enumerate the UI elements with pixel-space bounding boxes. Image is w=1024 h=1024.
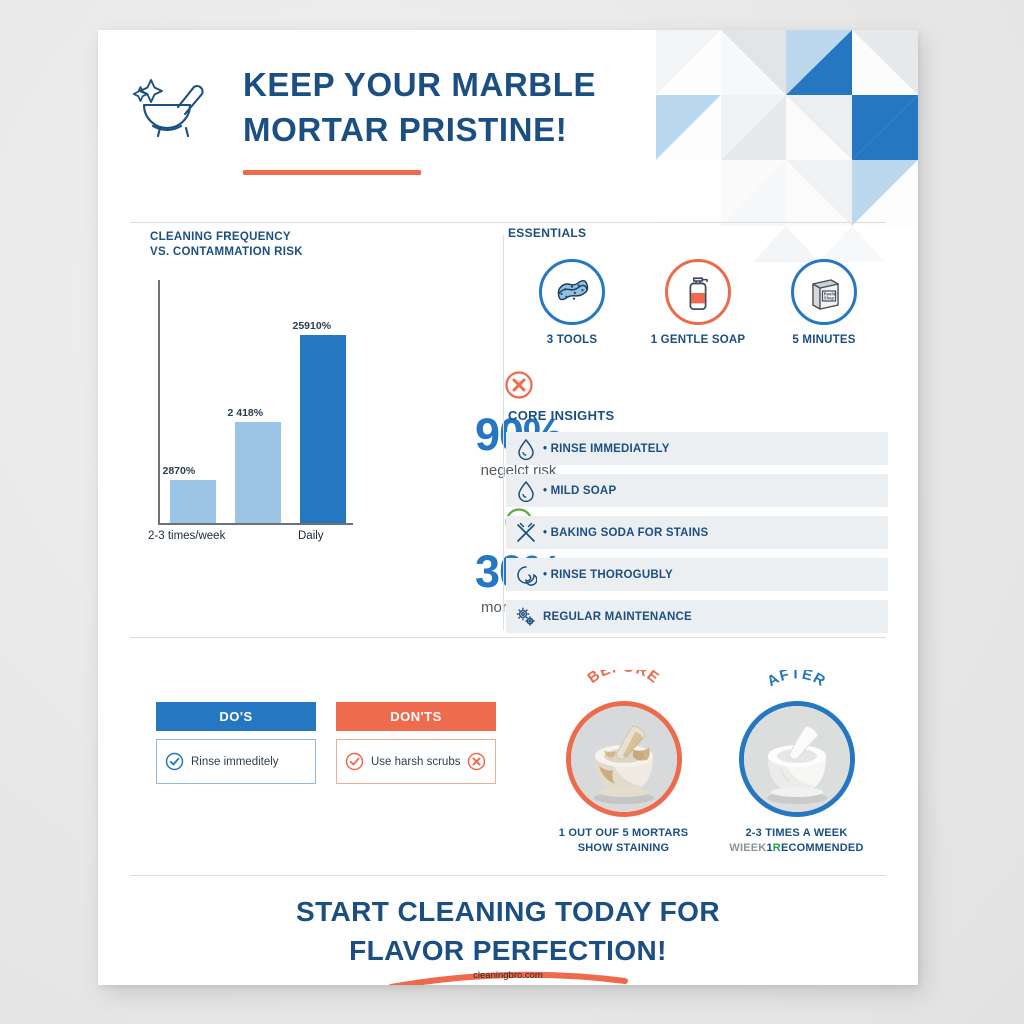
after-caption-frag-a: WIEEK xyxy=(729,842,766,854)
after-caption: 2-3 TIMES A WEEK WIEEK1RECOMMENDED xyxy=(719,826,874,856)
donts-header: DON'TS xyxy=(336,702,496,731)
divider-top xyxy=(130,222,886,223)
dos-item[interactable]: Rinse immeditely xyxy=(156,739,316,784)
title-line-2: MORTAR PRISTINE! xyxy=(243,107,663,152)
essentials-heading: ESSENTIALS xyxy=(508,226,888,241)
title-underline xyxy=(243,170,421,175)
swirl-icon xyxy=(515,564,537,586)
vertical-divider xyxy=(503,235,504,630)
insight-row[interactable]: • BAKING SODA FOR STAINS xyxy=(506,516,888,549)
box-text-line-2: Shap xyxy=(824,296,835,301)
circle-x-icon xyxy=(504,370,534,400)
insight-row[interactable]: • MILD SOAP xyxy=(506,474,888,507)
insight-label: • RINSE THOROGUBLY xyxy=(543,569,673,581)
essential-ring: Reelio Shap xyxy=(791,259,857,325)
dos-header: DO'S xyxy=(156,702,316,731)
bar xyxy=(235,422,281,523)
insight-label: • RINSE IMMEDIATELY xyxy=(543,443,670,455)
title-line-1: KEEP YOUR MARBLE xyxy=(243,62,663,107)
essential-item-minutes: Reelio Shap 5 MINUTES xyxy=(770,259,878,346)
after-caption-frag-d: ECOMMENDED xyxy=(781,842,864,854)
insight-label: • BAKING SODA FOR STAINS xyxy=(543,527,708,539)
chart-title-line-1: CLEANING FREQUENCY xyxy=(150,230,360,245)
core-insights-heading: CORE INSIGHTS xyxy=(508,408,888,423)
core-insights-list: • RINSE IMMEDIATELY• MILD SOAP• BAKING S… xyxy=(506,432,888,633)
before-caption: 1 OUT OUF 5 MORTARS SHOW STAINING xyxy=(546,826,701,856)
before-label-text: BEFORE xyxy=(584,670,662,687)
gears-icon xyxy=(515,606,537,628)
core-insights-section: CORE INSIGHTS • RINSE IMMEDIATELY• MILD … xyxy=(506,408,888,633)
after-label-text: AFTER xyxy=(764,670,829,690)
after-photo xyxy=(739,701,855,817)
essential-ring xyxy=(539,259,605,325)
after-caption-frag-c: R xyxy=(773,842,781,854)
stained-marble-mortar-photo xyxy=(571,706,677,812)
clean-white-marble-mortar-photo xyxy=(744,706,850,812)
essentials-row: 3 TOOLS xyxy=(518,259,878,346)
bar xyxy=(170,480,216,523)
after-arc-label: AFTER xyxy=(719,670,874,696)
donts-column: DON'TS Use harsh scrubs xyxy=(336,702,496,784)
before-column: BEFORE xyxy=(546,670,701,856)
bar-value-label: 2870% xyxy=(163,465,196,477)
essentials-section: ESSENTIALS xyxy=(506,226,888,346)
y-axis xyxy=(158,280,160,523)
bar-chart: 2870%2 418%25910% 2-3 times/weekDaily xyxy=(150,280,350,525)
cross-brush-icon xyxy=(515,522,537,544)
essential-ring xyxy=(665,259,731,325)
donts-item[interactable]: Use harsh scrubs xyxy=(336,739,496,784)
circle-check-icon xyxy=(165,752,184,771)
x-axis xyxy=(158,523,353,525)
before-photo xyxy=(566,701,682,817)
insight-label: REGULAR MAINTENANCE xyxy=(543,611,692,623)
before-after-section: BEFORE xyxy=(546,670,886,856)
bar-value-label: 2 418% xyxy=(228,407,264,419)
insight-row[interactable]: • RINSE IMMEDIATELY xyxy=(506,432,888,465)
insight-row[interactable]: • RINSE THOROGUBLY xyxy=(506,558,888,591)
chart-title-line-2: VS. CONTAMMATION RISK xyxy=(150,245,360,260)
before-arc-label: BEFORE xyxy=(546,670,701,696)
mortar-and-pestle-sparkle-icon xyxy=(130,60,216,146)
soap-dispenser-icon xyxy=(680,272,716,312)
before-caption-line-1: 1 OUT OUF 5 MORTARS xyxy=(546,826,701,841)
essential-label: 1 GENTLE SOAP xyxy=(644,334,752,346)
before-caption-line-2: SHOW STAINING xyxy=(546,841,701,856)
divider-bottom xyxy=(130,875,886,876)
svg-text:BEFORE: BEFORE xyxy=(584,670,662,687)
after-caption-line-2: WIEEK1RECOMMENDED xyxy=(719,841,874,856)
water-drop-icon xyxy=(515,480,537,502)
essential-item-soap: 1 GENTLE SOAP xyxy=(644,259,752,346)
footer-line-1: START CLEANING TODAY FOR xyxy=(98,892,918,931)
dos-column: DO'S Rinse immeditely xyxy=(156,702,316,784)
essential-label: 5 MINUTES xyxy=(770,334,878,346)
svg-text:AFTER: AFTER xyxy=(764,670,829,690)
footer-url: cleaningbro.com xyxy=(98,970,918,981)
sponge-icon xyxy=(553,273,591,311)
chart-title: CLEANING FREQUENCY VS. CONTAMMATION RISK xyxy=(150,230,360,260)
footer-line-2: FLAVOR PERFECTION! xyxy=(98,931,918,970)
page-title: KEEP YOUR MARBLE MORTAR PRISTINE! xyxy=(243,62,663,152)
infographic-poster: KEEP YOUR MARBLE MORTAR PRISTINE! CLEANI… xyxy=(98,30,918,985)
donts-item-text: Use harsh scrubs xyxy=(371,756,460,768)
divider-middle xyxy=(130,637,886,638)
water-drop-icon xyxy=(515,438,537,460)
after-caption-line-1: 2-3 TIMES A WEEK xyxy=(719,826,874,841)
header: KEEP YOUR MARBLE MORTAR PRISTINE! xyxy=(98,30,918,190)
insight-label: • MILD SOAP xyxy=(543,485,616,497)
x-tick-label: Daily xyxy=(298,530,324,542)
insight-row[interactable]: REGULAR MAINTENANCE xyxy=(506,600,888,633)
dos-item-text: Rinse immeditely xyxy=(191,756,279,768)
baking-soda-box-icon: Reelio Shap xyxy=(804,272,844,312)
essential-label: 3 TOOLS xyxy=(518,334,626,346)
essential-item-tools: 3 TOOLS xyxy=(518,259,626,346)
dos-donts-section: DO'S Rinse immeditely DON'TS Use harsh s… xyxy=(156,702,496,784)
circle-check-icon xyxy=(345,752,364,771)
bar xyxy=(300,335,346,523)
circle-x-icon xyxy=(467,752,486,771)
x-tick-label: 2-3 times/week xyxy=(148,530,225,542)
after-column: AFTER 2-3 TIMES A WEEK WIEEK1R xyxy=(719,670,874,856)
bar-value-label: 25910% xyxy=(293,320,332,332)
footer: START CLEANING TODAY FOR FLAVOR PERFECTI… xyxy=(98,892,918,970)
